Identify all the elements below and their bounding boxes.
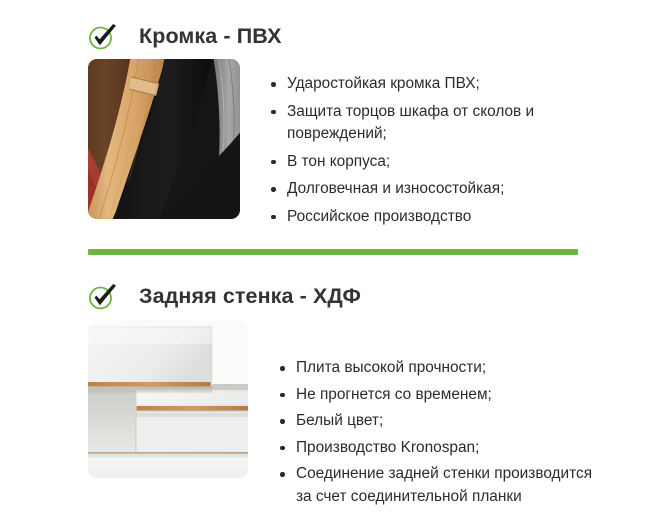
section-title: Кромка - ПВХ — [139, 26, 282, 48]
list-item: Долговечная и износостойкая; — [270, 178, 587, 201]
list-item: Плита высокой прочности; — [279, 357, 596, 380]
green-divider — [88, 249, 578, 255]
section-body-edge: Ударостойкая кромка ПВХ; Защита торцов ш… — [88, 56, 652, 233]
list-item: Российское производство — [270, 206, 587, 229]
divider-wrapper — [0, 233, 652, 269]
product-features-page: Кромка - ПВХ — [0, 0, 652, 500]
section-heading-edge: Кромка - ПВХ — [88, 18, 652, 56]
section-title: Задняя стенка - ХДФ — [139, 286, 361, 308]
pvc-edge-banding-photo — [88, 59, 240, 219]
list-item: В тон корпуса; — [270, 151, 587, 174]
list-item: Не прогнется со временем; — [279, 384, 596, 407]
section-heading-back: Задняя стенка - ХДФ — [88, 278, 652, 316]
feature-list-back: Плита высокой прочности; Не прогнется со… — [279, 357, 596, 512]
section-back-panel: Задняя стенка - ХДФ — [0, 269, 652, 512]
list-item: Производство Kronospan; — [279, 437, 596, 460]
section-body-back: Плита высокой прочности; Не прогнется со… — [88, 316, 652, 512]
check-circle-icon — [86, 281, 120, 313]
list-item: Защита торцов шкафа от сколов и поврежде… — [270, 101, 587, 146]
check-circle-icon — [86, 21, 120, 53]
list-item: Белый цвет; — [279, 410, 596, 433]
feature-list-edge: Ударостойкая кромка ПВХ; Защита торцов ш… — [270, 73, 587, 233]
section-edge-banding: Кромка - ПВХ — [0, 0, 652, 233]
list-item: Ударостойкая кромка ПВХ; — [270, 73, 587, 96]
list-item: Соединение задней стенки производится за… — [279, 463, 596, 508]
hdf-back-panel-photo — [88, 320, 248, 478]
